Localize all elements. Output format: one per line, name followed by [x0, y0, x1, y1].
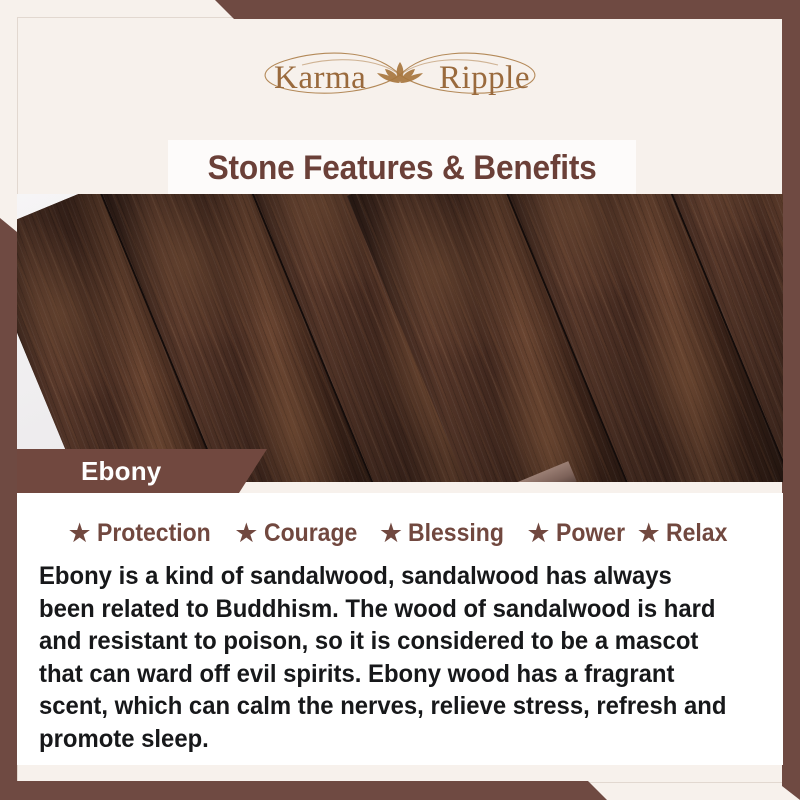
frame-right-bar — [782, 0, 800, 800]
star-icon: ★ — [637, 520, 661, 547]
feature-label: Protection — [97, 519, 211, 548]
feature-list: ★ Protection ★ Courage ★ Blessing ★ Powe… — [17, 493, 783, 548]
brand-name-right: Ripple — [439, 62, 530, 95]
star-icon: ★ — [67, 520, 91, 547]
feature-item-courage: ★ Courage — [234, 519, 365, 548]
feature-label: Blessing — [408, 519, 504, 548]
infographic-page: Karma Ripple Stone Features & Benefits E… — [0, 0, 800, 800]
feature-item-power: ★ Power — [526, 519, 630, 548]
title-banner: Stone Features & Benefits — [168, 140, 636, 197]
product-label: Ebony — [81, 456, 161, 487]
feature-item-relax: ★ Relax — [637, 519, 733, 548]
product-photo — [17, 194, 783, 482]
star-icon: ★ — [379, 520, 403, 547]
product-description: Ebony is a kind of sandalwood, sandalwoo… — [39, 560, 729, 755]
feature-label: Courage — [264, 519, 357, 548]
feature-label: Relax — [666, 519, 727, 548]
feature-item-blessing: ★ Blessing — [379, 519, 512, 548]
product-label-banner: Ebony — [17, 449, 267, 493]
feature-item-protection: ★ Protection — [67, 519, 220, 548]
brand-logo: Karma Ripple — [0, 40, 800, 110]
content-card: ★ Protection ★ Courage ★ Blessing ★ Powe… — [17, 493, 783, 765]
brand-logo-inner: Karma Ripple — [250, 44, 550, 106]
feature-label: Power — [556, 519, 625, 548]
page-title: Stone Features & Benefits — [208, 149, 597, 188]
star-icon: ★ — [234, 520, 258, 547]
star-icon: ★ — [526, 520, 550, 547]
brand-name-left: Karma — [274, 62, 366, 95]
